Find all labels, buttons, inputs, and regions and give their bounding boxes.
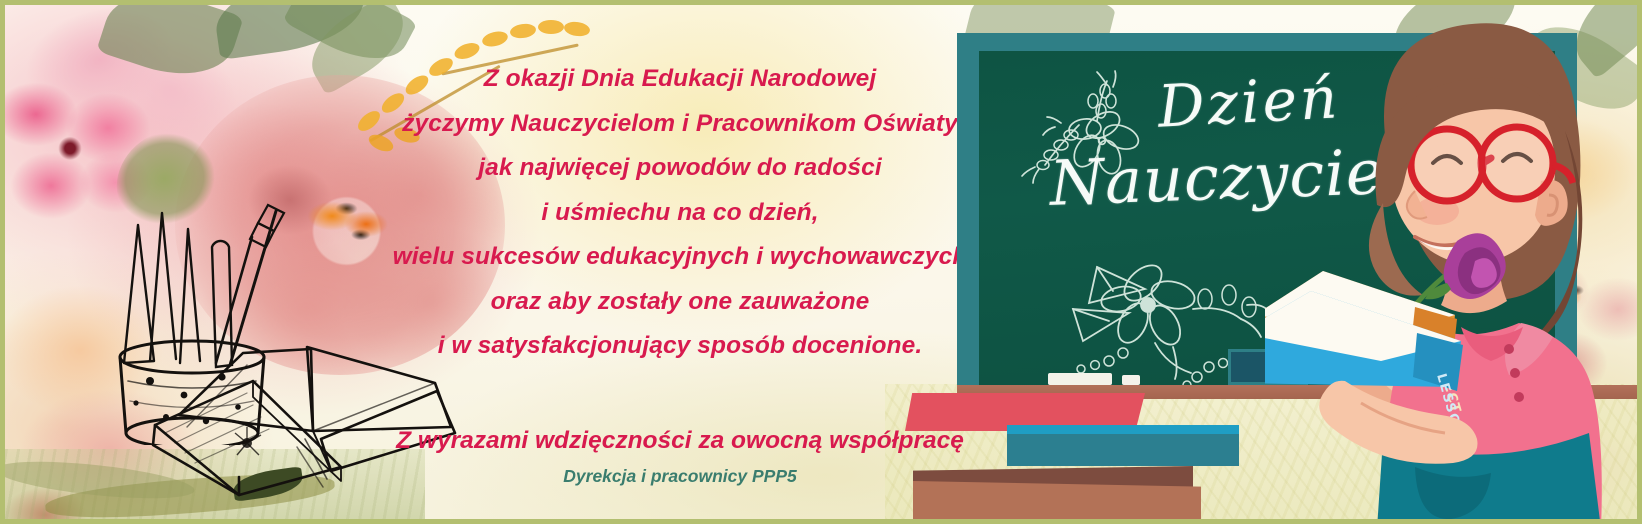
shirt-button (1504, 344, 1514, 354)
message-line: życzymy Nauczycielom i Pracownikom Oświa… (335, 102, 1025, 147)
stacked-book-teal (1007, 434, 1239, 466)
message-line: oraz aby zostały one zauważone (335, 280, 1025, 325)
message-line: i uśmiechu na co dzień, (335, 191, 1025, 236)
chalk-piece (1122, 375, 1140, 385)
message-line: Z okazji Dnia Edukacji Narodowej (335, 57, 1025, 102)
greeting-card: Z okazji Dnia Edukacji Narodowej życzymy… (0, 0, 1642, 524)
shirt-button (1514, 392, 1524, 402)
message-line: i w satysfakcjonujący sposób docenione. (335, 324, 1025, 369)
shirt-button (1510, 368, 1520, 378)
greeting-message: Z okazji Dnia Edukacji Narodowej życzymy… (335, 57, 1025, 369)
stacked-book-brown (913, 481, 1201, 521)
message-line: wielu sukcesów edukacyjnych i wychowawcz… (335, 235, 1025, 280)
teacher-illustration: SUBJECT LESSON (1265, 15, 1642, 524)
message-line: jak najwięcej powodów do radości (335, 146, 1025, 191)
chalk-piece (1048, 373, 1112, 385)
